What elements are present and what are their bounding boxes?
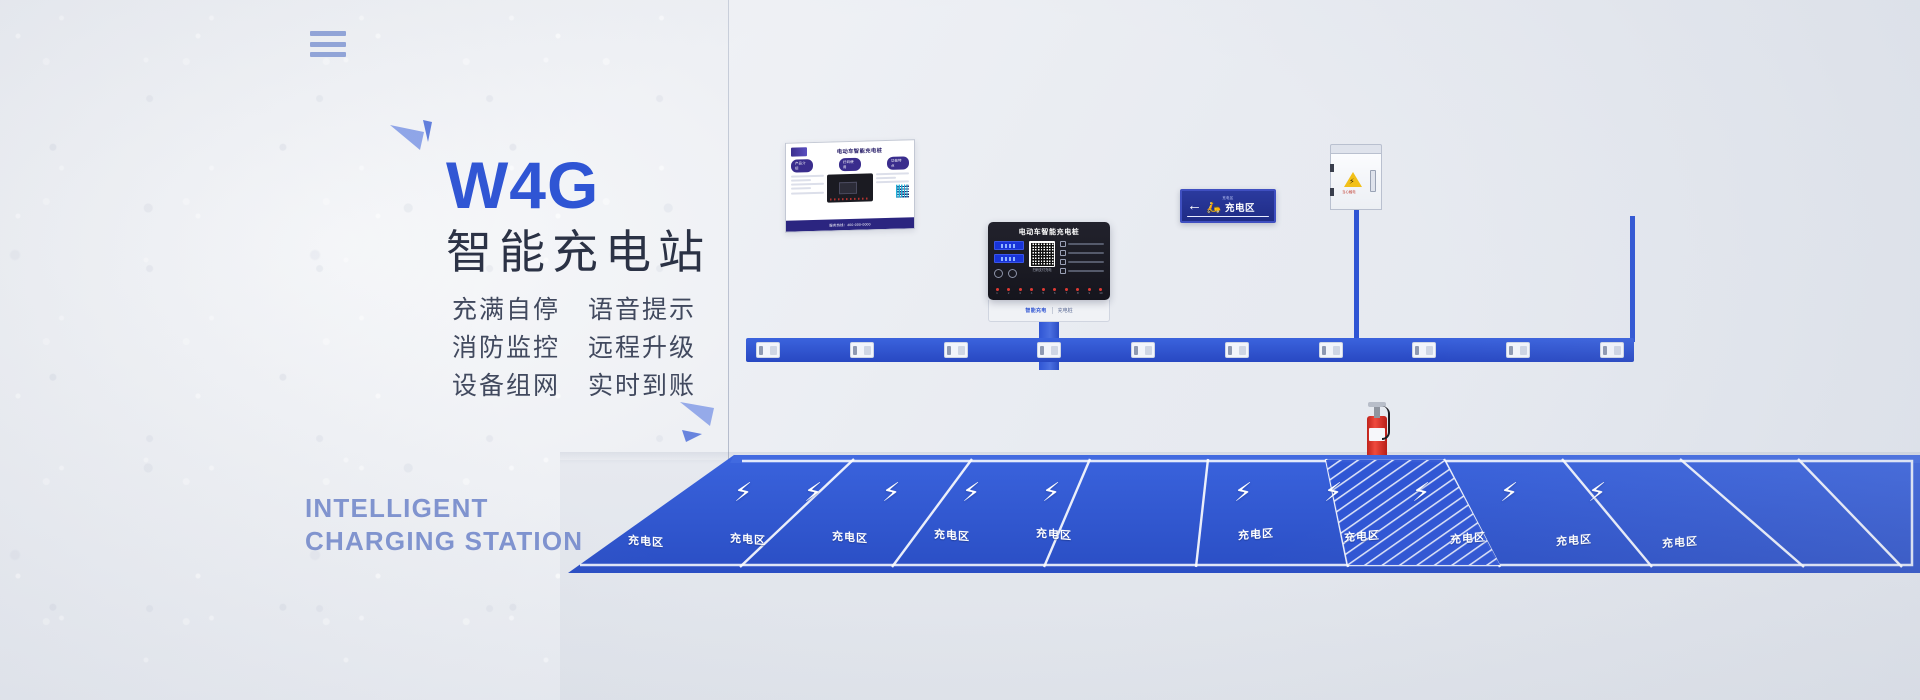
plug-icon: ⚡ <box>734 479 752 505</box>
poster-text-line <box>876 177 896 180</box>
scooter-icon: 🛵 <box>1206 201 1221 213</box>
led-display-1 <box>994 241 1024 250</box>
poster-footer: 服务热线：400-000-0000 <box>786 217 914 232</box>
timer-icon <box>1060 250 1066 256</box>
wall-socket[interactable] <box>1600 342 1624 358</box>
poster-text-line <box>876 172 909 175</box>
direction-sign: 充电区 ← 🛵 充电区 <box>1180 189 1276 223</box>
bay-label: 充电区 <box>628 532 664 551</box>
qr-code-icon <box>1031 243 1054 266</box>
feature-item: 充满自停 <box>452 294 560 326</box>
charging-port[interactable]: 3 <box>1017 288 1023 295</box>
plug-icon: ⚡ <box>1234 479 1252 505</box>
decor-arrow-bottom <box>676 400 722 444</box>
sign-label: 充电区 <box>1225 200 1255 214</box>
wall-socket[interactable] <box>1319 342 1343 358</box>
info-row <box>1060 241 1104 247</box>
menu-bar-3 <box>310 52 346 57</box>
wall-socket-rail <box>746 338 1634 362</box>
parking-lot: ⚡ ⚡ ⚡ ⚡ ⚡ ⚡ ⚡ ⚡ ⚡ ⚡ 充电区 充电区 充电区 充电区 充电区 … <box>562 455 1920 700</box>
socket-row <box>746 338 1634 362</box>
plug-icon: ⚡ <box>962 479 980 505</box>
wall-socket[interactable] <box>1506 342 1530 358</box>
plug-icon: ⚡ <box>1412 479 1430 505</box>
poster-text-line <box>791 187 811 190</box>
extinguisher-hose <box>1382 406 1390 440</box>
poster-body <box>791 172 909 203</box>
hero-banner: W4G 智能充电站 充满自停 语音提示 消防监控 远程升级 设备组网 实时到账 … <box>0 0 1920 700</box>
bay-label: 充电区 <box>1238 525 1274 544</box>
wall-socket[interactable] <box>1225 342 1249 358</box>
poster-col-right <box>876 172 909 201</box>
info-row <box>1060 259 1104 265</box>
cabinet-hinge <box>1330 188 1334 196</box>
charging-pile-main: 扫码支付充电 <box>994 241 1104 278</box>
bay-label: 充电区 <box>1450 529 1486 548</box>
alert-icon <box>1060 268 1066 274</box>
fan-icon[interactable] <box>1008 269 1017 278</box>
wall-socket[interactable] <box>1131 342 1155 358</box>
feature-list: 充满自停 语音提示 消防监控 远程升级 设备组网 实时到账 <box>452 294 696 402</box>
poster-text-line <box>791 175 824 178</box>
feature-item: 消防监控 <box>452 332 560 364</box>
english-tagline: INTELLIGENT CHARGING STATION <box>305 492 583 559</box>
poster-chip-mid: 扫码使用 <box>839 158 861 171</box>
poster-col-left <box>791 175 824 204</box>
cabinet-door[interactable]: 当心触电 <box>1330 154 1382 210</box>
poster-text-line <box>791 179 811 182</box>
feature-item: 语音提示 <box>588 294 696 326</box>
feature-item: 远程升级 <box>588 332 696 364</box>
pile-brand-label: 智能充电 <box>1025 307 1046 314</box>
wall-socket[interactable] <box>756 342 780 358</box>
charging-pile-qr[interactable]: 扫码支付充电 <box>1029 241 1055 267</box>
electrical-cabinet: 当心触电 <box>1330 144 1382 210</box>
divider <box>1052 307 1053 314</box>
led-display-2 <box>994 254 1024 263</box>
charging-pile-title: 电动车智能充电桩 <box>994 227 1104 237</box>
poster-title: 电动车智能充电桩 <box>810 145 909 156</box>
rail-drop-conduit <box>1630 216 1635 342</box>
warning-label: 当心触电 <box>1337 189 1361 194</box>
page-subtitle: 智能充电站 <box>446 226 986 279</box>
cabinet-handle[interactable] <box>1370 170 1376 192</box>
charging-port[interactable]: 7 <box>1063 288 1069 295</box>
poster-qr-code <box>896 185 909 198</box>
cabinet-top <box>1330 144 1382 154</box>
wall-socket[interactable] <box>1412 342 1436 358</box>
knob-icon[interactable] <box>994 269 1003 278</box>
plug-icon: ⚡ <box>1500 479 1518 505</box>
wall-poster: 电动车智能充电桩 产品介绍 扫码使用 功能特点 <box>785 139 915 233</box>
poster-chip-row: 产品介绍 扫码使用 功能特点 <box>791 156 909 172</box>
plug-icon: ⚡ <box>804 479 822 505</box>
bay-label: 充电区 <box>1556 531 1592 550</box>
bay-label: 充电区 <box>1344 527 1380 546</box>
poster-device-ports <box>830 197 870 200</box>
poster-text-line <box>791 191 824 194</box>
left-arrow-icon: ← <box>1187 198 1202 213</box>
charging-port-row: 1 2 3 4 5 6 7 8 9 10 <box>994 289 1104 295</box>
poster-logo <box>791 147 807 156</box>
charging-port[interactable]: 2 <box>1006 288 1012 295</box>
charging-port[interactable]: 8 <box>1075 288 1081 295</box>
poster-text-line <box>791 183 824 186</box>
sign-row: ← 🛵 充电区 <box>1187 200 1269 214</box>
coin-icon <box>1060 259 1066 265</box>
hamburger-menu-icon[interactable] <box>310 31 346 57</box>
cabinet-hinge <box>1330 164 1334 172</box>
charging-pile-info <box>1060 241 1104 274</box>
poster-chip-right: 功能特点 <box>887 156 909 169</box>
electric-warning-icon <box>1344 172 1362 187</box>
bay-label: 充电区 <box>730 530 766 549</box>
poster-chip-left: 产品介绍 <box>791 159 813 172</box>
qr-caption: 扫码支付充电 <box>1031 267 1054 272</box>
menu-bar-1 <box>310 31 346 36</box>
charging-port[interactable]: 9 <box>1086 288 1092 295</box>
bay-label: 充电区 <box>1662 533 1698 552</box>
bay-label: 充电区 <box>832 528 868 547</box>
charging-port[interactable]: 1 <box>994 288 1000 295</box>
charging-port[interactable]: 4 <box>1029 288 1035 295</box>
charging-port[interactable]: 6 <box>1052 288 1058 295</box>
sign-underline <box>1187 216 1269 218</box>
poster-device-screen <box>839 182 857 195</box>
poster-header: 电动车智能充电桩 <box>791 144 909 156</box>
plug-icon: ⚡ <box>1324 479 1342 505</box>
feature-item: 实时到账 <box>588 370 696 402</box>
feature-item: 设备组网 <box>452 370 560 402</box>
poster-device-image <box>827 173 873 202</box>
charging-port[interactable]: 10 <box>1098 288 1104 295</box>
info-row <box>1060 268 1104 274</box>
bay-label: 充电区 <box>1036 525 1072 544</box>
english-line-2: CHARGING STATION <box>305 525 583 558</box>
decor-arrow-top <box>390 120 436 160</box>
charging-pile-base: 智能充电 充电桩 <box>988 300 1110 322</box>
plug-icon: ⚡ <box>1588 479 1606 505</box>
poster-text-line <box>876 181 909 184</box>
pile-tag-label: 充电桩 <box>1058 307 1073 314</box>
plug-icon: ⚡ <box>882 479 900 505</box>
english-line-1: INTELLIGENT <box>305 492 583 525</box>
charging-pile-unit[interactable]: 电动车智能充电桩 扫码支付充电 <box>988 222 1110 322</box>
charging-pile-displays <box>994 241 1024 278</box>
wall-socket[interactable] <box>944 342 968 358</box>
plug-icon: ⚡ <box>1042 479 1060 505</box>
wall-socket[interactable] <box>850 342 874 358</box>
wall-socket[interactable] <box>1037 342 1061 358</box>
extinguisher-neck <box>1374 407 1380 418</box>
menu-bar-2 <box>310 42 346 47</box>
bay-label: 充电区 <box>934 526 970 545</box>
info-row <box>1060 250 1104 256</box>
charging-port[interactable]: 5 <box>1040 288 1046 295</box>
charging-pile-panel[interactable]: 电动车智能充电桩 扫码支付充电 <box>988 222 1110 300</box>
power-icon <box>1060 241 1066 247</box>
